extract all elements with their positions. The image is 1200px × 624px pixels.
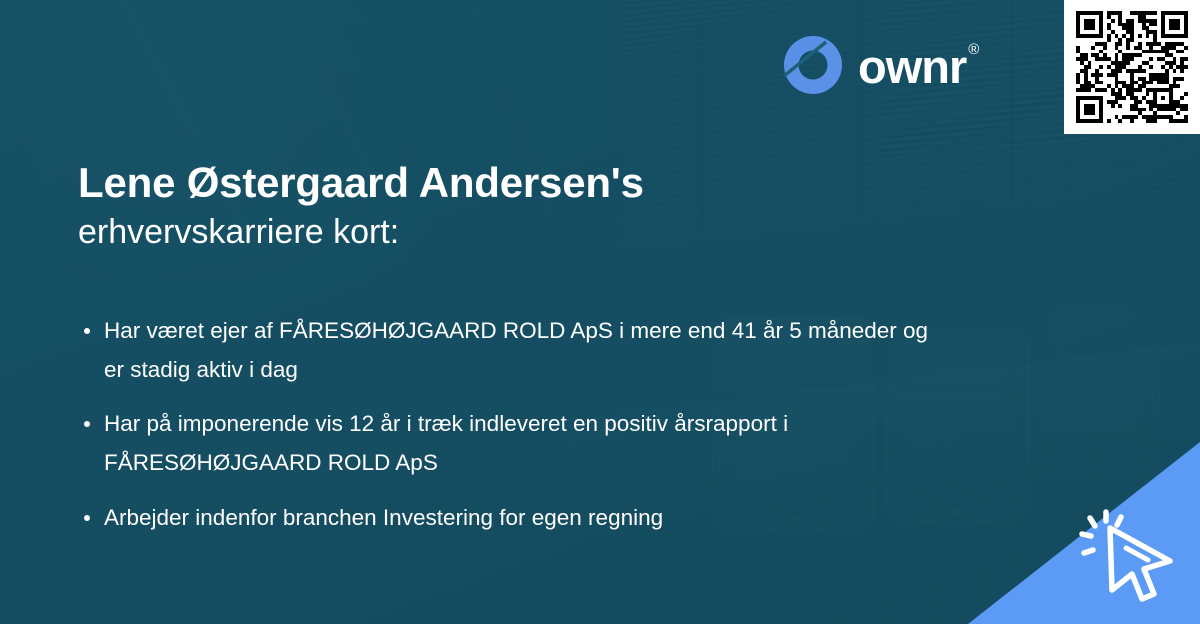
- ownr-wordmark: ownr®: [858, 43, 976, 90]
- ownr-circle-logo-icon: [782, 34, 844, 96]
- list-item: Har været ejer af FÅRESØHØJGAARD ROLD Ap…: [82, 312, 952, 389]
- list-item: Har på imponerende vis 12 år i træk indl…: [82, 405, 952, 482]
- ownr-logo[interactable]: ownr®: [782, 34, 976, 96]
- bullet-dot-icon: [84, 421, 90, 427]
- bullet-dot-icon: [84, 328, 90, 334]
- promo-card: ownr® Lene Østergaard Andersen's erhverv…: [0, 0, 1200, 624]
- page-title: Lene Østergaard Andersen's erhvervskarri…: [78, 158, 978, 252]
- bullet-dot-icon: [84, 515, 90, 521]
- qr-code-modules: [1076, 11, 1188, 123]
- headline-person-name: Lene Østergaard Andersen's: [78, 158, 978, 208]
- click-cursor-icon: [1074, 498, 1186, 610]
- list-item-label: Arbejder indenfor branchen Investering f…: [104, 505, 663, 530]
- registered-mark: ®: [968, 41, 978, 58]
- list-item-label: Har på imponerende vis 12 år i træk indl…: [104, 411, 788, 475]
- ownr-wordmark-text: ownr: [858, 40, 966, 93]
- list-item-label: Har været ejer af FÅRESØHØJGAARD ROLD Ap…: [104, 318, 928, 382]
- headline-subtitle: erhvervskarriere kort:: [78, 212, 978, 253]
- career-highlights-list: Har været ejer af FÅRESØHØJGAARD ROLD Ap…: [82, 312, 952, 537]
- qr-code[interactable]: [1064, 0, 1200, 134]
- list-item: Arbejder indenfor branchen Investering f…: [82, 499, 952, 538]
